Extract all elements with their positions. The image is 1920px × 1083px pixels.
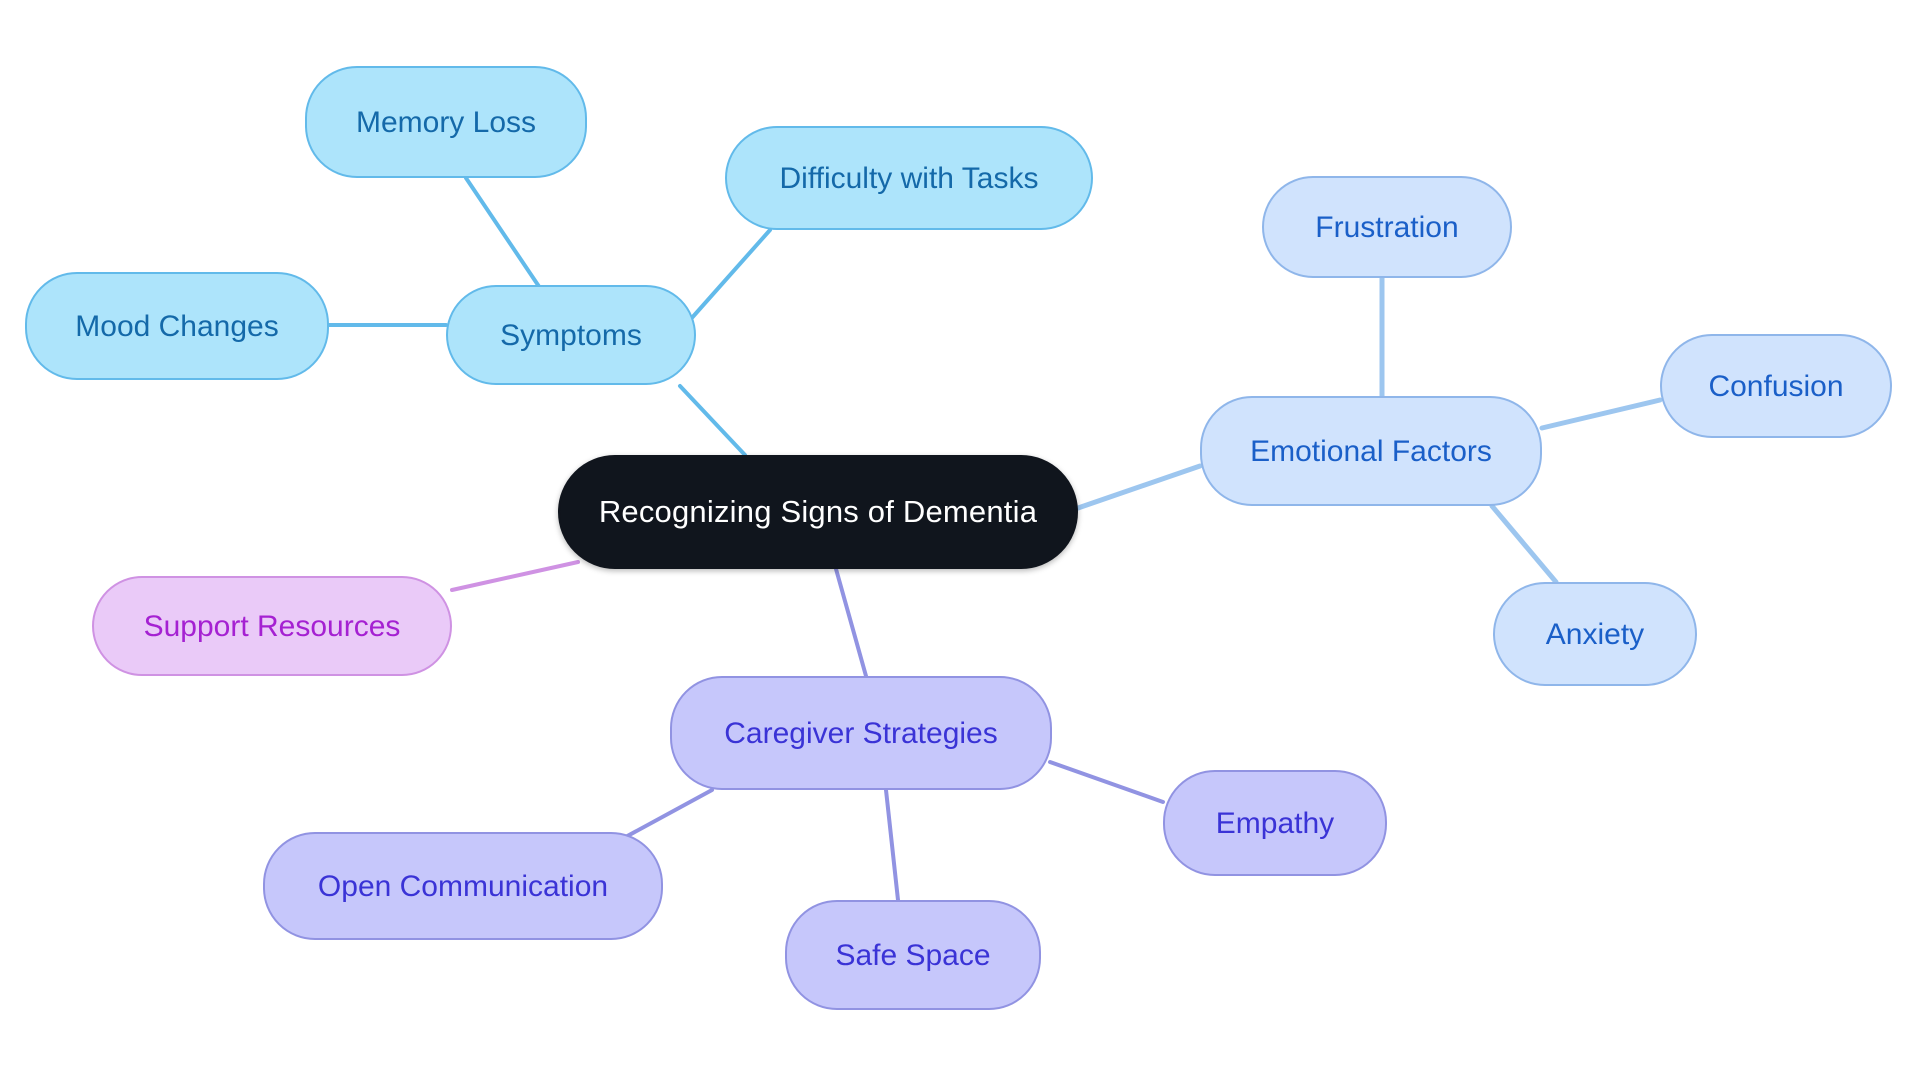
mindmap-node-emotional-factors[interactable]: Emotional Factors [1200,396,1542,506]
mindmap-edge [1050,762,1163,802]
mindmap-node-open-communication[interactable]: Open Communication [263,832,663,940]
mindmap-node-caregiver-strategies[interactable]: Caregiver Strategies [670,676,1052,790]
mindmap-node-confusion[interactable]: Confusion [1660,334,1892,438]
node-label-difficulty-with-tasks: Difficulty with Tasks [774,162,1045,195]
node-label-support-resources: Support Resources [138,610,407,643]
node-label-confusion: Confusion [1702,370,1849,403]
mindmap-edge [836,569,866,676]
mindmap-node-support-resources[interactable]: Support Resources [92,576,452,676]
mindmap-node-empathy[interactable]: Empathy [1163,770,1387,876]
node-label-symptoms: Symptoms [494,319,648,352]
node-label-safe-space: Safe Space [829,939,996,972]
mindmap-edge [452,562,578,590]
mindmap-edge [466,178,540,288]
node-label-caregiver-strategies: Caregiver Strategies [718,717,1003,750]
node-label-open-communication: Open Communication [312,870,614,903]
mindmap-edge [1492,506,1556,582]
mindmap-edge [680,386,745,455]
mindmap-node-anxiety[interactable]: Anxiety [1493,582,1697,686]
mindmap-node-difficulty-with-tasks[interactable]: Difficulty with Tasks [725,126,1093,230]
mindmap-node-mood-changes[interactable]: Mood Changes [25,272,329,380]
mindmap-canvas: Recognizing Signs of DementiaSymptomsMem… [0,0,1920,1083]
mindmap-edge [690,230,770,320]
node-label-memory-loss: Memory Loss [350,106,542,139]
mindmap-node-symptoms[interactable]: Symptoms [446,285,696,385]
mindmap-node-frustration[interactable]: Frustration [1262,176,1512,278]
mindmap-node-memory-loss[interactable]: Memory Loss [305,66,587,178]
node-label-root: Recognizing Signs of Dementia [593,495,1043,529]
node-label-empathy: Empathy [1210,807,1340,840]
mindmap-edge [1542,400,1660,428]
node-label-mood-changes: Mood Changes [69,310,284,343]
mindmap-edge [1078,466,1200,508]
mindmap-edge [886,790,898,900]
mindmap-node-safe-space[interactable]: Safe Space [785,900,1041,1010]
node-label-frustration: Frustration [1309,211,1464,244]
node-label-anxiety: Anxiety [1540,618,1650,651]
mindmap-edge [620,790,712,840]
mindmap-node-root[interactable]: Recognizing Signs of Dementia [558,455,1078,569]
node-label-emotional-factors: Emotional Factors [1244,435,1498,468]
